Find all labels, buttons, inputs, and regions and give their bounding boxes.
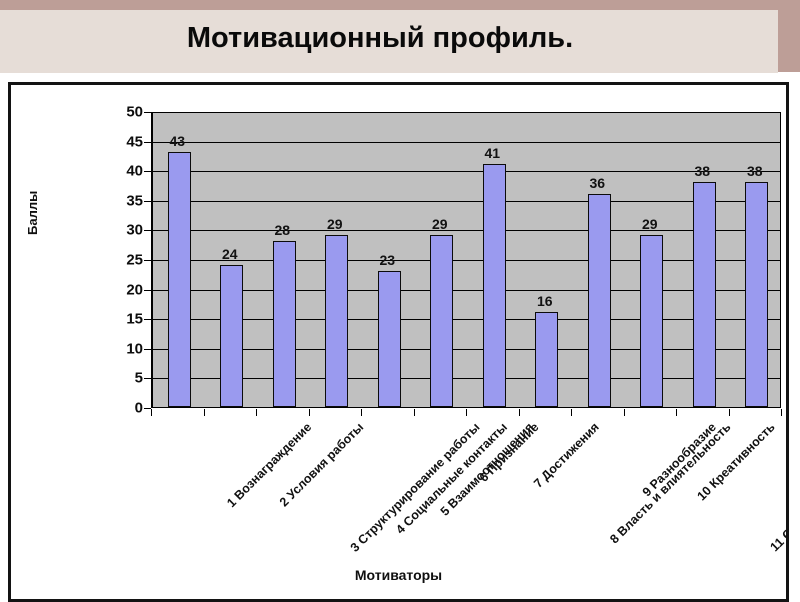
y-axis-tick-label: 30 xyxy=(109,223,143,238)
gridline xyxy=(153,201,780,202)
x-axis-tick-mark xyxy=(151,409,152,416)
plot-area xyxy=(151,112,781,408)
x-axis-tick-mark xyxy=(624,409,625,416)
y-axis-tick-label: 45 xyxy=(109,134,143,149)
y-axis-tick-label: 50 xyxy=(109,105,143,120)
bar xyxy=(483,164,506,407)
bar xyxy=(325,235,348,407)
x-axis-tick-mark xyxy=(361,409,362,416)
bar xyxy=(220,265,243,407)
y-axis-tick-mark xyxy=(144,201,151,202)
bar-value-label: 29 xyxy=(642,216,658,232)
gridline xyxy=(153,260,780,261)
x-axis-tick-mark xyxy=(571,409,572,416)
x-axis-tick-mark xyxy=(519,409,520,416)
bar xyxy=(640,235,663,407)
y-axis-tick-mark xyxy=(144,112,151,113)
y-axis-tick-mark xyxy=(144,260,151,261)
y-axis-tick-label: 35 xyxy=(109,193,143,208)
x-axis-tick-mark xyxy=(729,409,730,416)
x-axis-tick-mark xyxy=(414,409,415,416)
gridline xyxy=(153,349,780,350)
bar-value-label: 43 xyxy=(169,133,185,149)
bar-value-label: 29 xyxy=(327,216,343,232)
y-axis-tick-mark xyxy=(144,319,151,320)
bar xyxy=(273,241,296,407)
y-axis-tick-label: 15 xyxy=(109,312,143,327)
bar-value-label: 16 xyxy=(537,293,553,309)
bar xyxy=(378,271,401,407)
bar-value-label: 38 xyxy=(694,163,710,179)
x-axis-category-label: 11 Самосовершенствование xyxy=(768,420,789,554)
bar-value-label: 24 xyxy=(222,246,238,262)
bar-value-label: 41 xyxy=(484,145,500,161)
y-axis-tick-label: 20 xyxy=(109,282,143,297)
y-axis-tick-label: 0 xyxy=(109,401,143,416)
y-axis-tick-mark xyxy=(144,290,151,291)
x-axis-title: Мотиваторы xyxy=(11,567,786,583)
bar-value-label: 29 xyxy=(432,216,448,232)
bar-value-label: 23 xyxy=(379,252,395,268)
gridline xyxy=(153,171,780,172)
y-axis-tick-mark xyxy=(144,171,151,172)
y-axis-tick-label: 25 xyxy=(109,253,143,268)
y-axis-tick-label: 40 xyxy=(109,164,143,179)
y-axis-tick-label: 10 xyxy=(109,341,143,356)
gridline xyxy=(153,112,780,113)
bar-value-label: 36 xyxy=(589,175,605,191)
y-axis-tick-label: 5 xyxy=(109,371,143,386)
gridline xyxy=(153,319,780,320)
y-axis-tick-mark xyxy=(144,378,151,379)
gridline xyxy=(153,290,780,291)
x-axis-tick-mark xyxy=(309,409,310,416)
y-axis-tick-mark xyxy=(144,230,151,231)
bar xyxy=(430,235,453,407)
bar xyxy=(535,312,558,407)
bar xyxy=(168,152,191,407)
chart-frame: Баллы 05101520253035404550 4324282923294… xyxy=(8,82,789,602)
bar-value-label: 38 xyxy=(747,163,763,179)
bar xyxy=(693,182,716,407)
x-axis-tick-mark xyxy=(204,409,205,416)
gridline xyxy=(153,230,780,231)
x-axis-category-label: 1 Вознаграждение xyxy=(224,420,314,510)
bar-value-label: 28 xyxy=(274,222,290,238)
decorative-right-band xyxy=(778,0,800,72)
y-axis-tick-mark xyxy=(144,349,151,350)
gridline xyxy=(153,142,780,143)
bar xyxy=(745,182,768,407)
x-axis-tick-mark xyxy=(256,409,257,416)
x-axis-category-label: 7 Достижения xyxy=(531,420,602,491)
bar xyxy=(588,194,611,407)
chart-canvas: Баллы 05101520253035404550 4324282923294… xyxy=(11,85,786,599)
x-axis-tick-mark xyxy=(781,409,782,416)
y-axis-tick-mark xyxy=(144,408,151,409)
x-axis-tick-mark xyxy=(676,409,677,416)
x-axis-tick-mark xyxy=(466,409,467,416)
y-axis-title: Баллы xyxy=(25,191,40,235)
page-title: Мотивационный профиль. xyxy=(0,22,760,55)
y-axis-tick-mark xyxy=(144,142,151,143)
gridline xyxy=(153,378,780,379)
